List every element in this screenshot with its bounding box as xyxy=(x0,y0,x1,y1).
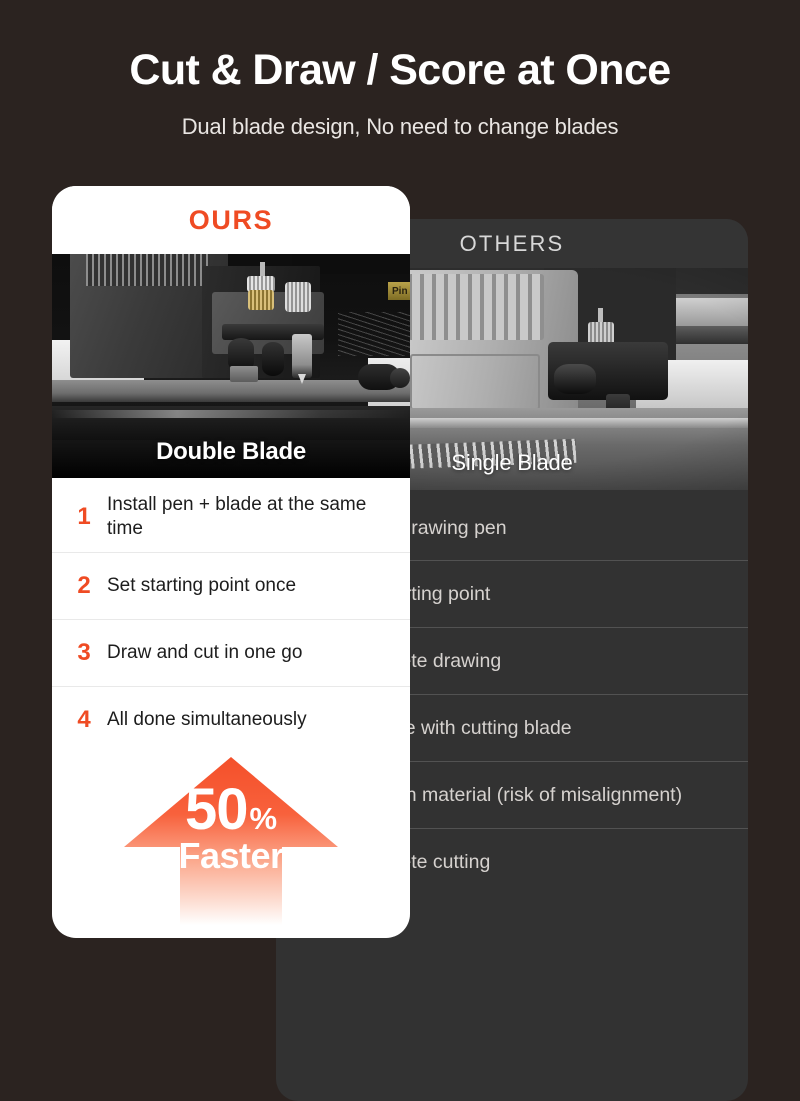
photo-gold-knob xyxy=(248,290,274,310)
page-subtitle: Dual blade design, No need to change bla… xyxy=(0,114,800,140)
step-text: Set starting point once xyxy=(107,574,296,598)
ours-panel: OURS P xyxy=(52,186,410,938)
photo-pen-holder-second xyxy=(262,342,284,376)
up-arrow-icon xyxy=(122,755,340,925)
pin-label-text: Pin xyxy=(392,286,408,297)
comparison-section: OTHERS Single Blade 1 I xyxy=(0,186,800,946)
step-text: Draw and cut in one go xyxy=(107,641,302,665)
photo-blade-holder xyxy=(292,334,312,378)
list-item: 3 Draw and cut in one go xyxy=(52,619,410,686)
ours-photo-caption: Double Blade xyxy=(52,438,410,466)
step-text: Install pen + blade at the same time xyxy=(107,493,384,541)
photo-vent-grille xyxy=(86,254,210,286)
ours-product-photo: Pin Double Blade xyxy=(52,254,410,478)
step-text: All done simultaneously xyxy=(107,708,307,732)
photo-pin-label: Pin xyxy=(388,282,410,300)
step-number: 3 xyxy=(76,639,92,667)
photo-silver-knob-right xyxy=(285,282,311,312)
page-title: Cut & Draw / Score at Once xyxy=(0,48,800,94)
step-number: 1 xyxy=(76,503,92,531)
faster-badge: 50 % Faster xyxy=(52,755,410,927)
others-header-label: OTHERS xyxy=(460,231,565,257)
ours-panel-header: OURS xyxy=(52,186,410,254)
list-item: 4 All done simultaneously xyxy=(52,686,410,753)
list-item: 1 Install pen + blade at the same time xyxy=(52,482,410,552)
photo-pinch-roller-second xyxy=(390,368,410,388)
photo-rail xyxy=(52,380,410,402)
step-number: 4 xyxy=(76,706,92,734)
page-header: Cut & Draw / Score at Once Dual blade de… xyxy=(0,0,800,140)
photo-metal-clip xyxy=(230,366,258,382)
ours-steps-list: 1 Install pen + blade at the same time 2… xyxy=(52,478,410,753)
step-number: 2 xyxy=(76,572,92,600)
list-item: 2 Set starting point once xyxy=(52,552,410,619)
ours-header-label: OURS xyxy=(189,205,273,236)
photo-diagonal-lines xyxy=(338,312,410,356)
photo-deck-shine xyxy=(52,410,410,418)
